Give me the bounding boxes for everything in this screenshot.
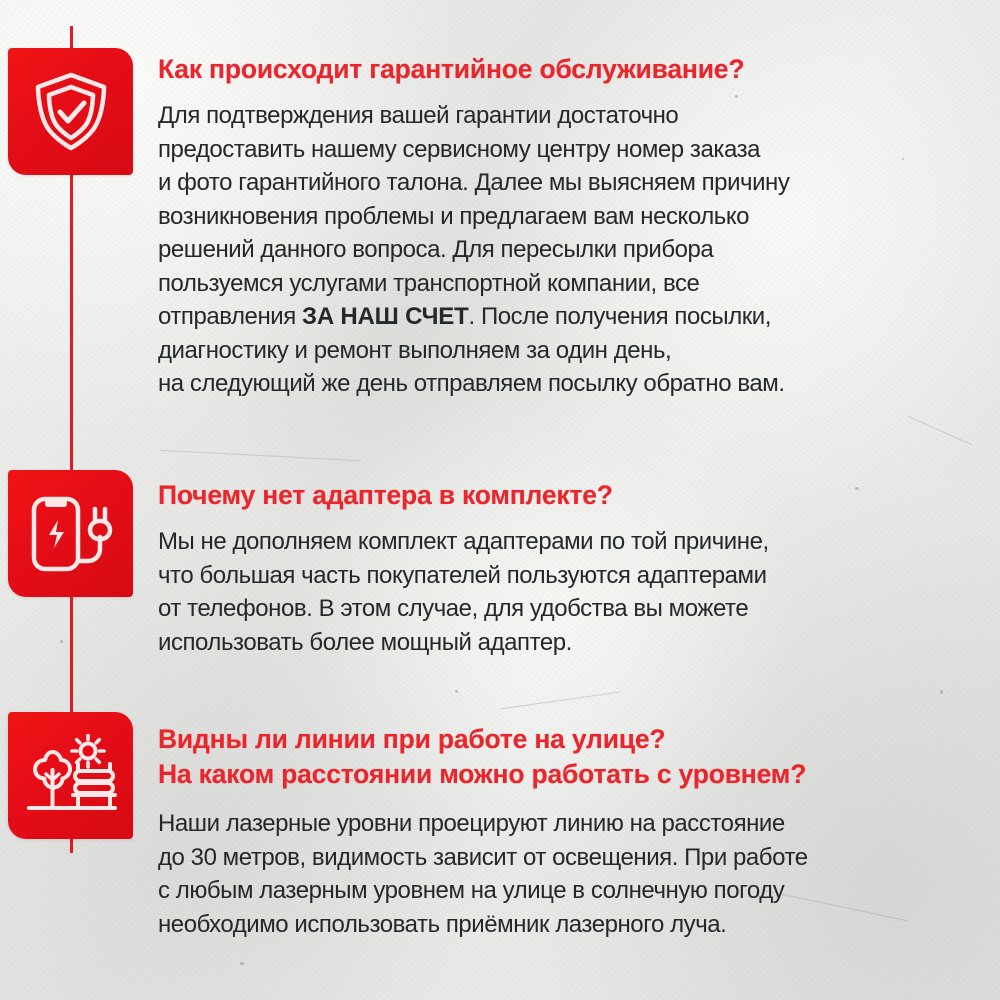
timeline-connector-line (70, 175, 73, 470)
faq-infographic-page: Как происходит гарантийное обслуживание?… (0, 0, 1000, 1000)
faq-body-part: Наши лазерные уровни проецируют линию на… (158, 810, 808, 938)
faq-icon-tile-warranty (8, 48, 133, 175)
texture-speck (455, 690, 458, 693)
faq-body-part: Мы не дополняем комплект адаптерами по т… (158, 528, 769, 656)
faq-item-adapter: Почему нет адаптера в комплекте? Мы не д… (158, 478, 990, 659)
faq-icon-tile-adapter (8, 470, 133, 597)
faq-body: Для подтверждения вашей гарантии достато… (158, 99, 990, 401)
faq-heading: Видны ли линии при работе на улице? (158, 722, 990, 757)
park-sun-bench-icon (25, 734, 117, 818)
timeline-connector-line (70, 26, 73, 48)
timeline-connector-line (70, 597, 73, 712)
faq-item-outdoor: Видны ли линии при работе на улице? На к… (158, 722, 990, 941)
faq-body: Мы не дополняем комплект адаптерами по т… (158, 525, 990, 659)
faq-icon-tile-outdoor (8, 712, 133, 839)
faq-body-part: Для подтверждения вашей гарантии достато… (158, 102, 789, 330)
texture-speck (240, 962, 244, 965)
faq-heading-secondary: На каком расстоянии можно работать с уро… (158, 757, 990, 792)
texture-speck (940, 690, 943, 694)
faq-item-warranty: Как происходит гарантийное обслуживание?… (158, 52, 990, 401)
texture-speck (60, 640, 63, 643)
faq-body-emphasis: ЗА НАШ СЧЕТ (302, 303, 469, 330)
faq-heading: Как происходит гарантийное обслуживание? (158, 52, 990, 87)
phone-charger-icon (28, 493, 114, 575)
faq-heading: Почему нет адаптера в комплекте? (158, 478, 990, 513)
timeline-connector-line (70, 839, 73, 853)
faq-body: Наши лазерные уровни проецируют линию на… (158, 807, 990, 941)
shield-check-icon (32, 71, 110, 153)
